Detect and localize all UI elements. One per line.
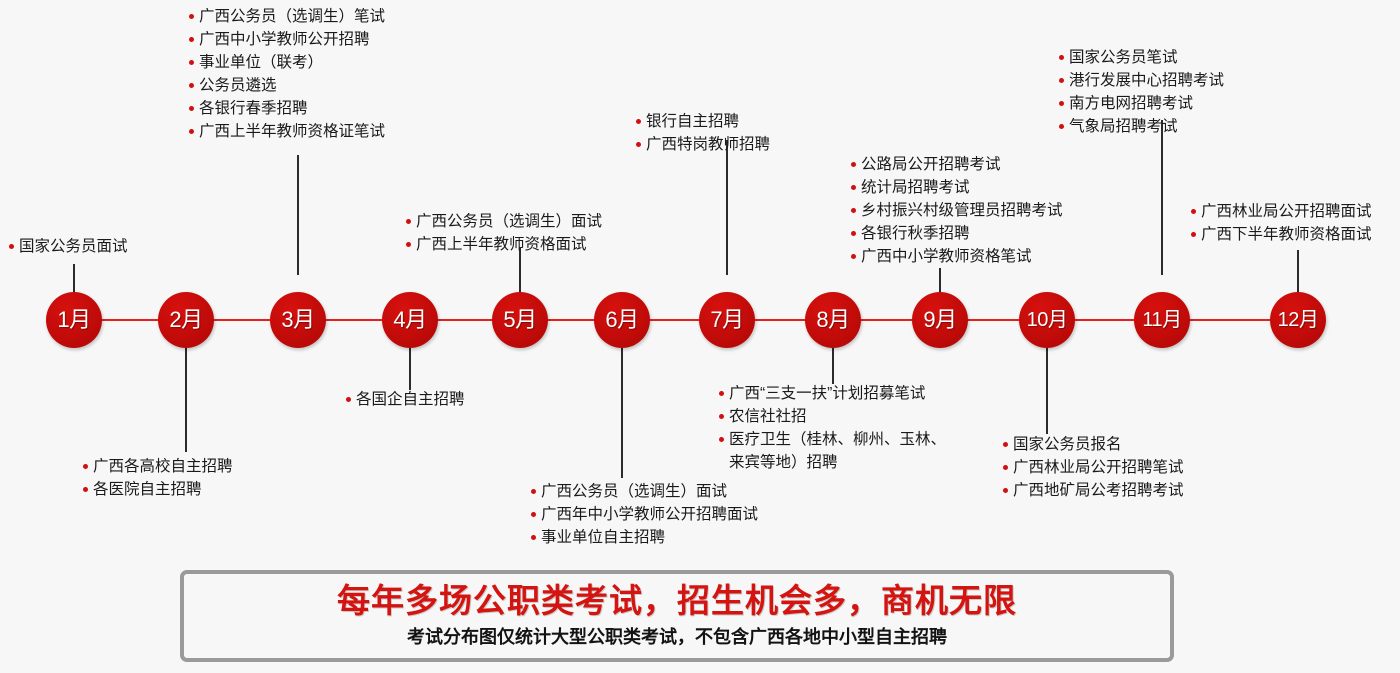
month-node-9[interactable]: 9月: [912, 292, 968, 348]
annotation-item-continuation: 来宾等地）招聘: [718, 451, 946, 474]
month-node-1[interactable]: 1月: [46, 292, 102, 348]
stem-month-1-above: [73, 264, 75, 292]
month-node-7[interactable]: 7月: [699, 292, 755, 348]
annotation-item: 医疗卫生（桂林、柳州、玉林、: [718, 428, 946, 451]
annotation-item: 港行发展中心招聘考试: [1058, 69, 1224, 92]
annotation-item: 乡村振兴村级管理员招聘考试: [850, 199, 1063, 222]
annotation-group-jan: 国家公务员面试: [8, 235, 128, 258]
annotation-item: 国家公务员笔试: [1058, 46, 1224, 69]
annotation-group-jul: 银行自主招聘 广西特岗教师招聘: [635, 110, 770, 156]
annotation-group-mar: 广西公务员（选调生）笔试 广西中小学教师公开招聘 事业单位（联考） 公务员遴选 …: [188, 5, 385, 143]
annotation-item: 广西下半年教师资格面试: [1190, 223, 1372, 246]
annotation-item: 各国企自主招聘: [345, 388, 465, 411]
month-node-4[interactable]: 4月: [382, 292, 438, 348]
annotation-item: 广西中小学教师公开招聘: [188, 28, 385, 51]
annotation-group-dec: 广西林业局公开招聘面试 广西下半年教师资格面试: [1190, 200, 1372, 246]
month-node-12[interactable]: 12月: [1270, 292, 1326, 348]
stem-month-10-below: [1046, 348, 1048, 434]
annotation-item: 广西林业局公开招聘面试: [1190, 200, 1372, 223]
annotation-item: 广西公务员（选调生）面试: [405, 210, 602, 233]
annotation-item: 广西上半年教师资格面试: [405, 233, 602, 256]
stem-month-7-above: [726, 140, 728, 275]
annotation-item: 事业单位（联考）: [188, 51, 385, 74]
month-node-5[interactable]: 5月: [492, 292, 548, 348]
month-node-11[interactable]: 11月: [1134, 292, 1190, 348]
stem-month-8-below: [832, 348, 834, 384]
annotation-item: 统计局招聘考试: [850, 176, 1063, 199]
month-node-10[interactable]: 10月: [1019, 292, 1075, 348]
stem-month-3-above: [297, 155, 299, 275]
annotation-item: 广西公务员（选调生）笔试: [188, 5, 385, 28]
annotation-item: 农信社社招: [718, 405, 946, 428]
annotation-item: 公路局公开招聘考试: [850, 153, 1063, 176]
stem-month-2-below: [185, 348, 187, 452]
annotation-group-apr: 各国企自主招聘: [345, 388, 465, 411]
stem-month-4-below: [409, 348, 411, 390]
annotation-item: 各银行春季招聘: [188, 97, 385, 120]
annotation-group-oct: 国家公务员报名 广西林业局公开招聘笔试 广西地矿局公考招聘考试: [1002, 433, 1184, 502]
month-node-3[interactable]: 3月: [270, 292, 326, 348]
annotation-group-jun: 广西公务员（选调生）面试 广西年中小学教师公开招聘面试 事业单位自主招聘: [530, 480, 758, 549]
annotation-item: 公务员遴选: [188, 74, 385, 97]
month-node-6[interactable]: 6月: [594, 292, 650, 348]
annotation-item: 各银行秋季招聘: [850, 222, 1063, 245]
month-node-8[interactable]: 8月: [805, 292, 861, 348]
annotation-item: 广西上半年教师资格证笔试: [188, 120, 385, 143]
annotation-item: 广西地矿局公考招聘考试: [1002, 479, 1184, 502]
stem-month-9-above: [939, 268, 941, 292]
stem-month-11-above: [1161, 120, 1163, 275]
annotation-group-nov: 国家公务员笔试 港行发展中心招聘考试 南方电网招聘考试 气象局招聘考试: [1058, 46, 1224, 138]
annotation-item: 国家公务员面试: [8, 235, 128, 258]
annotation-group-aug: 广西“三支一扶”计划招募笔试 农信社社招 医疗卫生（桂林、柳州、玉林、 来宾等地…: [718, 382, 946, 474]
banner-title: 每年多场公职类考试，招生机会多，商机无限: [337, 582, 1017, 622]
annotation-item: 广西各高校自主招聘: [82, 455, 233, 478]
month-node-2[interactable]: 2月: [158, 292, 214, 348]
annotation-item: 广西“三支一扶”计划招募笔试: [718, 382, 946, 405]
annotation-item: 广西公务员（选调生）面试: [530, 480, 758, 503]
annotation-group-feb: 广西各高校自主招聘 各医院自主招聘: [82, 455, 233, 501]
annotation-item: 事业单位自主招聘: [530, 526, 758, 549]
annotation-item: 广西中小学教师资格笔试: [850, 245, 1063, 268]
annotation-item: 气象局招聘考试: [1058, 115, 1224, 138]
annotation-item: 各医院自主招聘: [82, 478, 233, 501]
annotation-item: 南方电网招聘考试: [1058, 92, 1224, 115]
timeline-infographic: 1月 2月 3月 4月 5月 6月 7月 8月 9月 10月 11月 12月 国…: [0, 0, 1400, 673]
stem-month-6-below: [621, 348, 623, 478]
annotation-item: 银行自主招聘: [635, 110, 770, 133]
annotation-group-sep: 公路局公开招聘考试 统计局招聘考试 乡村振兴村级管理员招聘考试 各银行秋季招聘 …: [850, 153, 1063, 268]
timeline-axis: [74, 319, 1298, 321]
stem-month-12-above: [1297, 250, 1299, 292]
annotation-item: 广西林业局公开招聘笔试: [1002, 456, 1184, 479]
annotation-item: 广西特岗教师招聘: [635, 133, 770, 156]
summary-banner: 每年多场公职类考试，招生机会多，商机无限 考试分布图仅统计大型公职类考试，不包含…: [180, 570, 1174, 662]
annotation-item: 国家公务员报名: [1002, 433, 1184, 456]
banner-subtitle: 考试分布图仅统计大型公职类考试，不包含广西各地中小型自主招聘: [407, 624, 947, 650]
annotation-group-may: 广西公务员（选调生）面试 广西上半年教师资格面试: [405, 210, 602, 256]
annotation-item: 广西年中小学教师公开招聘面试: [530, 503, 758, 526]
